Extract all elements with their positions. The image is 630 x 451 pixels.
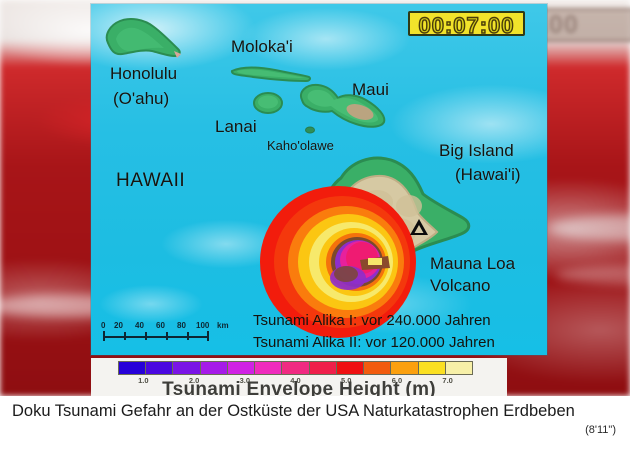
scalebar-end-left [103, 331, 105, 341]
scalebar-tick-0: 0 [101, 321, 105, 330]
label-maui: Maui [352, 80, 389, 100]
colorbar-strip [118, 361, 473, 375]
colorbar-segment-6 [282, 362, 309, 374]
label-hawaii-paren: (Hawai'i) [455, 165, 521, 185]
colorbar-segment-3 [201, 362, 228, 374]
label-kahoolawe: Kaho'olawe [267, 138, 334, 153]
island-lanai [251, 90, 285, 116]
label-hawaii-region: HAWAII [116, 170, 185, 192]
scalebar-mark-4 [187, 332, 189, 340]
scalebar-tick-80: 80 [177, 321, 186, 330]
colorbar-segment-11 [419, 362, 446, 374]
scalebar-tick-60: 60 [156, 321, 165, 330]
colorbar-segment-2 [173, 362, 200, 374]
scalebar-unit: km [217, 321, 229, 330]
colorbar-segment-9 [364, 362, 391, 374]
video-duration: (8'11") [585, 424, 616, 436]
scalebar-tick-100: 100 [196, 321, 209, 330]
ghost-timer-overlay: .00 [539, 8, 630, 42]
tsunami-simulation-map: Honolulu (O'ahu) Moloka'i Maui Lanai Kah… [91, 4, 547, 355]
volcano-marker-icon [409, 218, 429, 241]
scalebar-line [103, 336, 209, 338]
colorbar-segment-0 [119, 362, 146, 374]
simulation-timer: 00:07:00 [408, 11, 525, 36]
colorbar-legend: 1.02.03.04.05.06.07.0 Tsunami Envelope H… [91, 358, 507, 398]
scalebar-mark-3 [166, 332, 168, 340]
map-canvas: Honolulu (O'ahu) Moloka'i Maui Lanai Kah… [91, 4, 547, 355]
annotation-alika-1: Tsunami Alika I: vor 240.000 Jahren [253, 312, 491, 329]
colorbar-segment-4 [228, 362, 255, 374]
scalebar-mark-2 [145, 332, 147, 340]
screenshot-root: .00 [0, 0, 630, 451]
label-lanai: Lanai [215, 117, 257, 137]
label-mauna-loa: Mauna Loa [430, 254, 515, 274]
label-molokai: Moloka'i [231, 37, 293, 57]
colorbar-segment-8 [337, 362, 364, 374]
colorbar-segment-7 [310, 362, 337, 374]
label-big-island: Big Island [439, 141, 514, 161]
island-oahu [98, 13, 184, 67]
label-volcano: Volcano [430, 276, 491, 296]
scalebar-end-right [207, 331, 209, 341]
scalebar-tick-20: 20 [114, 321, 123, 330]
caption-left-edge [0, 396, 6, 420]
video-title-link[interactable]: Doku Tsunami Gefahr an der Ostküste der … [12, 402, 624, 421]
colorbar-segment-5 [255, 362, 282, 374]
scalebar-tick-40: 40 [135, 321, 144, 330]
video-caption-area: Doku Tsunami Gefahr an der Ostküste der … [0, 396, 630, 451]
label-oahu: (O'ahu) [113, 89, 169, 109]
label-honolulu: Honolulu [110, 64, 177, 84]
colorbar-segment-10 [391, 362, 418, 374]
scalebar-mark-1 [124, 332, 126, 340]
map-scalebar: 0 20 40 60 80 100 km [97, 321, 227, 347]
colorbar-segment-12 [446, 362, 472, 374]
annotation-alika-2: Tsunami Alika II: vor 120.000 Jahren [253, 334, 495, 351]
colorbar-segment-1 [146, 362, 173, 374]
